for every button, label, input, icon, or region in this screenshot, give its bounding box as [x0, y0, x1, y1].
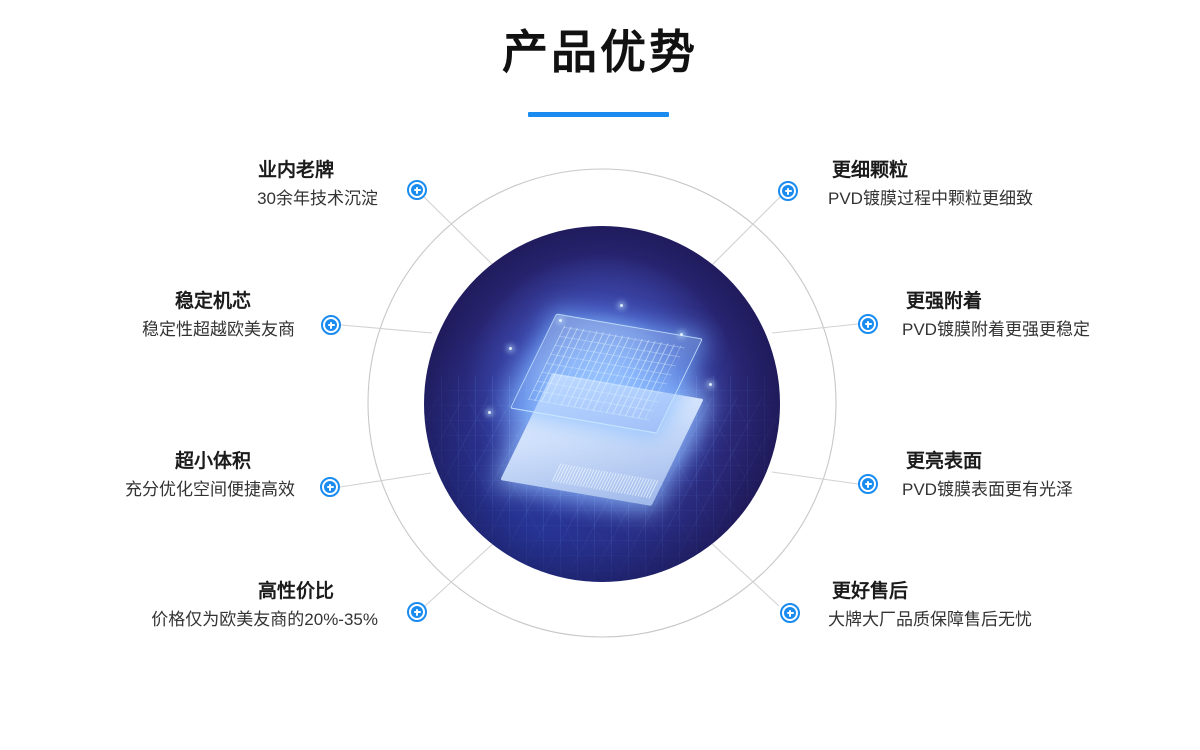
callout-finer-particles[interactable]: 更细颗粒 PVD镀膜过程中颗粒更细致 [828, 157, 1158, 213]
advantages-diagram: 业内老牌 30余年技术沉淀 稳定机芯 稳定性超越欧美友商 超小体积 充分优化空间… [0, 0, 1200, 750]
callout-industry-veteran[interactable]: 业内老牌 30余年技术沉淀 [48, 157, 378, 213]
plus-icon [324, 481, 336, 493]
plus-icon [862, 478, 874, 490]
cpu-chip-circuit-image [424, 226, 780, 582]
plus-icon [411, 184, 423, 196]
callout-desc: 价格仅为欧美友商的20%-35% [48, 606, 378, 634]
plus-circle-icon-industry-veteran[interactable] [407, 180, 427, 200]
connector-line-finer-particles [709, 197, 780, 268]
plus-circle-icon-cost-effective[interactable] [407, 602, 427, 622]
callout-title: 稳定机芯 [0, 288, 295, 316]
plus-circle-icon-better-service[interactable] [780, 603, 800, 623]
callout-title: 高性价比 [48, 578, 378, 606]
connector-line-stable-core [341, 325, 432, 333]
callout-desc: PVD镀膜附着更强更稳定 [902, 316, 1200, 344]
callout-desc: PVD镀膜过程中颗粒更细致 [828, 185, 1158, 213]
plus-circle-icon-stronger-adhesion[interactable] [858, 314, 878, 334]
plus-icon [784, 607, 796, 619]
connector-line-brighter-surface [772, 472, 858, 484]
callout-stronger-adhesion[interactable]: 更强附着 PVD镀膜附着更强更稳定 [902, 288, 1200, 344]
callout-desc: PVD镀膜表面更有光泽 [902, 476, 1200, 504]
plus-icon [325, 319, 337, 331]
callout-cost-effective[interactable]: 高性价比 价格仅为欧美友商的20%-35% [48, 578, 378, 634]
plus-circle-icon-finer-particles[interactable] [778, 181, 798, 201]
callout-desc: 充分优化空间便捷高效 [0, 476, 295, 504]
image-vignette [424, 226, 780, 582]
callout-desc: 稳定性超越欧美友商 [0, 316, 295, 344]
callout-title: 更好售后 [828, 578, 1158, 606]
callout-title: 更细颗粒 [828, 157, 1158, 185]
callout-better-service[interactable]: 更好售后 大牌大厂品质保障售后无忧 [828, 578, 1158, 634]
plus-circle-icon-compact-size[interactable] [320, 477, 340, 497]
plus-icon [411, 606, 423, 618]
plus-circle-icon-brighter-surface[interactable] [858, 474, 878, 494]
callout-brighter-surface[interactable]: 更亮表面 PVD镀膜表面更有光泽 [902, 448, 1200, 504]
callout-title: 更强附着 [902, 288, 1200, 316]
plus-icon [862, 318, 874, 330]
connector-line-stronger-adhesion [772, 324, 858, 333]
connector-line-compact-size [340, 473, 431, 487]
callout-title: 业内老牌 [48, 157, 378, 185]
callout-title: 更亮表面 [902, 448, 1200, 476]
plus-circle-icon-stable-core[interactable] [321, 315, 341, 335]
connector-line-industry-veteran [424, 197, 496, 268]
callout-desc: 大牌大厂品质保障售后无忧 [828, 606, 1158, 634]
callout-stable-core[interactable]: 稳定机芯 稳定性超越欧美友商 [0, 288, 295, 344]
product-advantages-page: 产品优势 [0, 0, 1200, 750]
plus-icon [782, 185, 794, 197]
callout-title: 超小体积 [0, 448, 295, 476]
callout-desc: 30余年技术沉淀 [48, 185, 378, 213]
callout-compact-size[interactable]: 超小体积 充分优化空间便捷高效 [0, 448, 295, 504]
